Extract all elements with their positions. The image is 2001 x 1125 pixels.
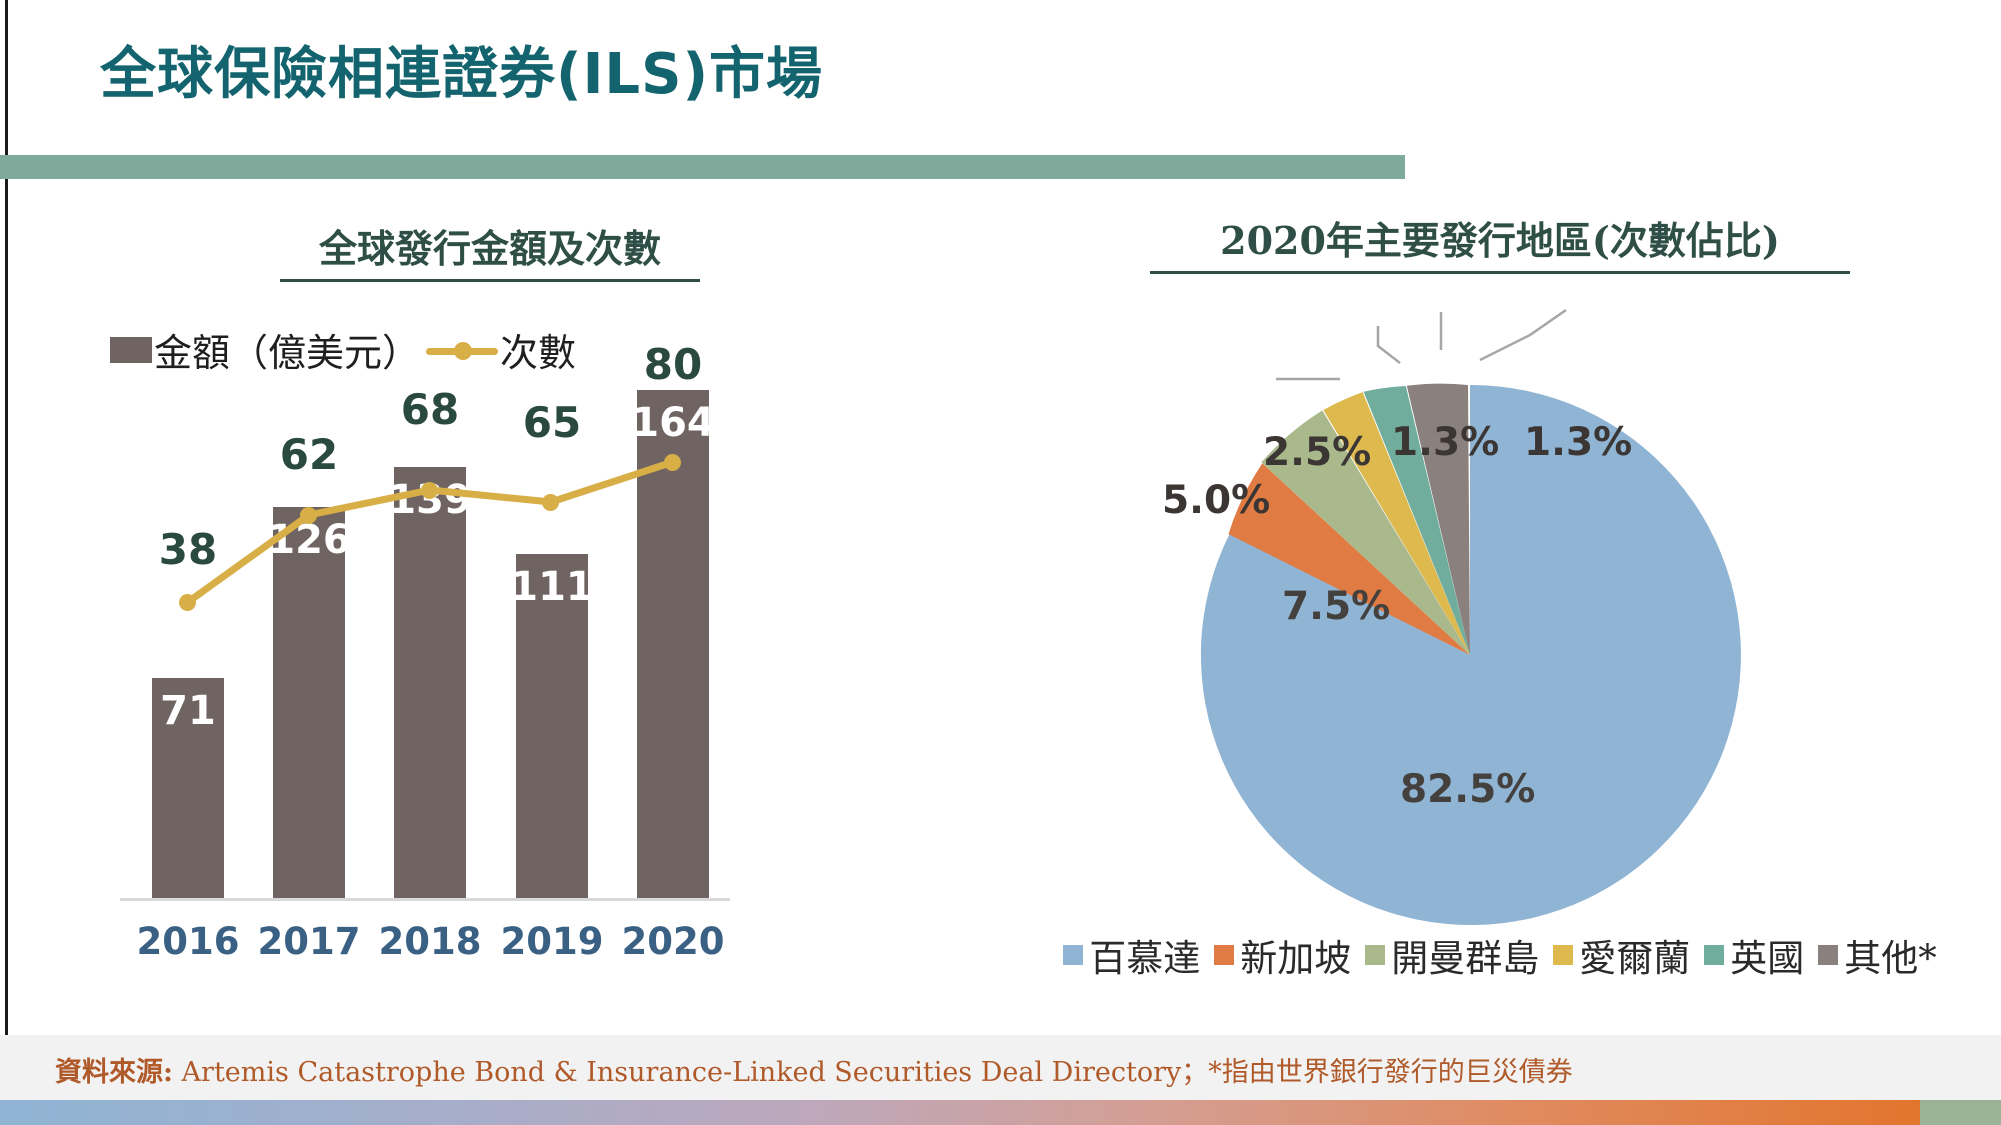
pie-value-singapore: 7.5% <box>1282 584 1390 629</box>
slide-canvas: 全球保險相連證券(ILS)市場 全球發行金額及次數 金額（億美元） 次數 71 … <box>0 0 2001 1125</box>
pie-legend-item-others: 其他* <box>1818 928 1937 982</box>
pie-legend-label-others: 其他* <box>1844 928 1937 982</box>
bar-chart-plot-area: 71 126 139 111 164 38 62 <box>90 200 730 1030</box>
line-point-2019 <box>542 494 559 511</box>
source-note: 資料來源: Artemis Catastrophe Bond & Insuran… <box>55 1050 1573 1089</box>
bar-line-chart: 全球發行金額及次數 金額（億美元） 次數 71 126 139 111 <box>60 200 900 1030</box>
legend-swatch-singapore <box>1214 945 1234 965</box>
pie-value-others: 1.3% <box>1524 420 1632 465</box>
pie-legend-item-cayman: 開曼群島 <box>1365 928 1539 982</box>
line-point-2020 <box>664 454 681 471</box>
title-accent-bar <box>0 155 1405 179</box>
pie-value-ireland: 2.5% <box>1263 430 1371 475</box>
count-line-series <box>90 200 730 1030</box>
pie-legend-label-singapore: 新加坡 <box>1240 928 1351 982</box>
pie-legend-label-ireland: 愛爾蘭 <box>1579 928 1690 982</box>
line-point-2018 <box>421 482 438 499</box>
line-value-2016: 38 <box>128 525 248 574</box>
pie-legend-item-bermuda: 百慕達 <box>1063 928 1200 982</box>
source-note-body: Artemis Catastrophe Bond & Insurance-Lin… <box>173 1057 1573 1088</box>
x-axis-label-2020: 2020 <box>603 920 743 963</box>
pie-legend-label-cayman: 開曼群島 <box>1391 928 1539 982</box>
legend-swatch-ireland <box>1553 945 1573 965</box>
pie-legend-label-uk: 英國 <box>1730 928 1804 982</box>
page-title: 全球保險相連證券(ILS)市場 <box>100 30 1500 120</box>
pie-legend-item-singapore: 新加坡 <box>1214 928 1351 982</box>
x-axis-label-2019: 2019 <box>482 920 622 963</box>
line-value-2019: 65 <box>492 398 612 447</box>
pie-legend-label-bermuda: 百慕達 <box>1089 928 1200 982</box>
x-axis-label-2018: 2018 <box>360 920 500 963</box>
pie-legend-item-ireland: 愛爾蘭 <box>1553 928 1690 982</box>
pie-chart-legend: 百慕達 新加坡 開曼群島 愛爾蘭 英國 其他* <box>1020 928 1980 982</box>
legend-swatch-bermuda <box>1063 945 1083 965</box>
pie-value-bermuda: 82.5% <box>1400 767 1535 812</box>
legend-swatch-uk <box>1704 945 1724 965</box>
pie-chart: 2020年主要發行地區(次數佔比) 82.5% 7.5% 5.0% 2.5% 1… <box>1000 200 2000 1030</box>
pie-legend-item-uk: 英國 <box>1704 928 1804 982</box>
pie-value-cayman: 5.0% <box>1162 478 1270 523</box>
line-value-2020: 80 <box>613 340 733 389</box>
source-note-label: 資料來源: <box>55 1057 173 1088</box>
bottom-gradient-bar <box>0 1100 1920 1125</box>
bottom-gradient-bar-end <box>1920 1100 2001 1125</box>
line-point-2017 <box>300 507 317 524</box>
line-value-2017: 62 <box>249 430 369 479</box>
pie-value-uk: 1.3% <box>1391 420 1499 465</box>
legend-swatch-others <box>1818 945 1838 965</box>
x-axis-label-2016: 2016 <box>118 920 258 963</box>
line-value-2018: 68 <box>370 385 490 434</box>
legend-swatch-cayman <box>1365 945 1385 965</box>
leader-line-13b <box>1480 310 1566 360</box>
x-axis-label-2017: 2017 <box>239 920 379 963</box>
pie-graphic <box>1000 200 2000 960</box>
leader-line-25 <box>1378 326 1400 363</box>
line-point-2016 <box>179 594 196 611</box>
